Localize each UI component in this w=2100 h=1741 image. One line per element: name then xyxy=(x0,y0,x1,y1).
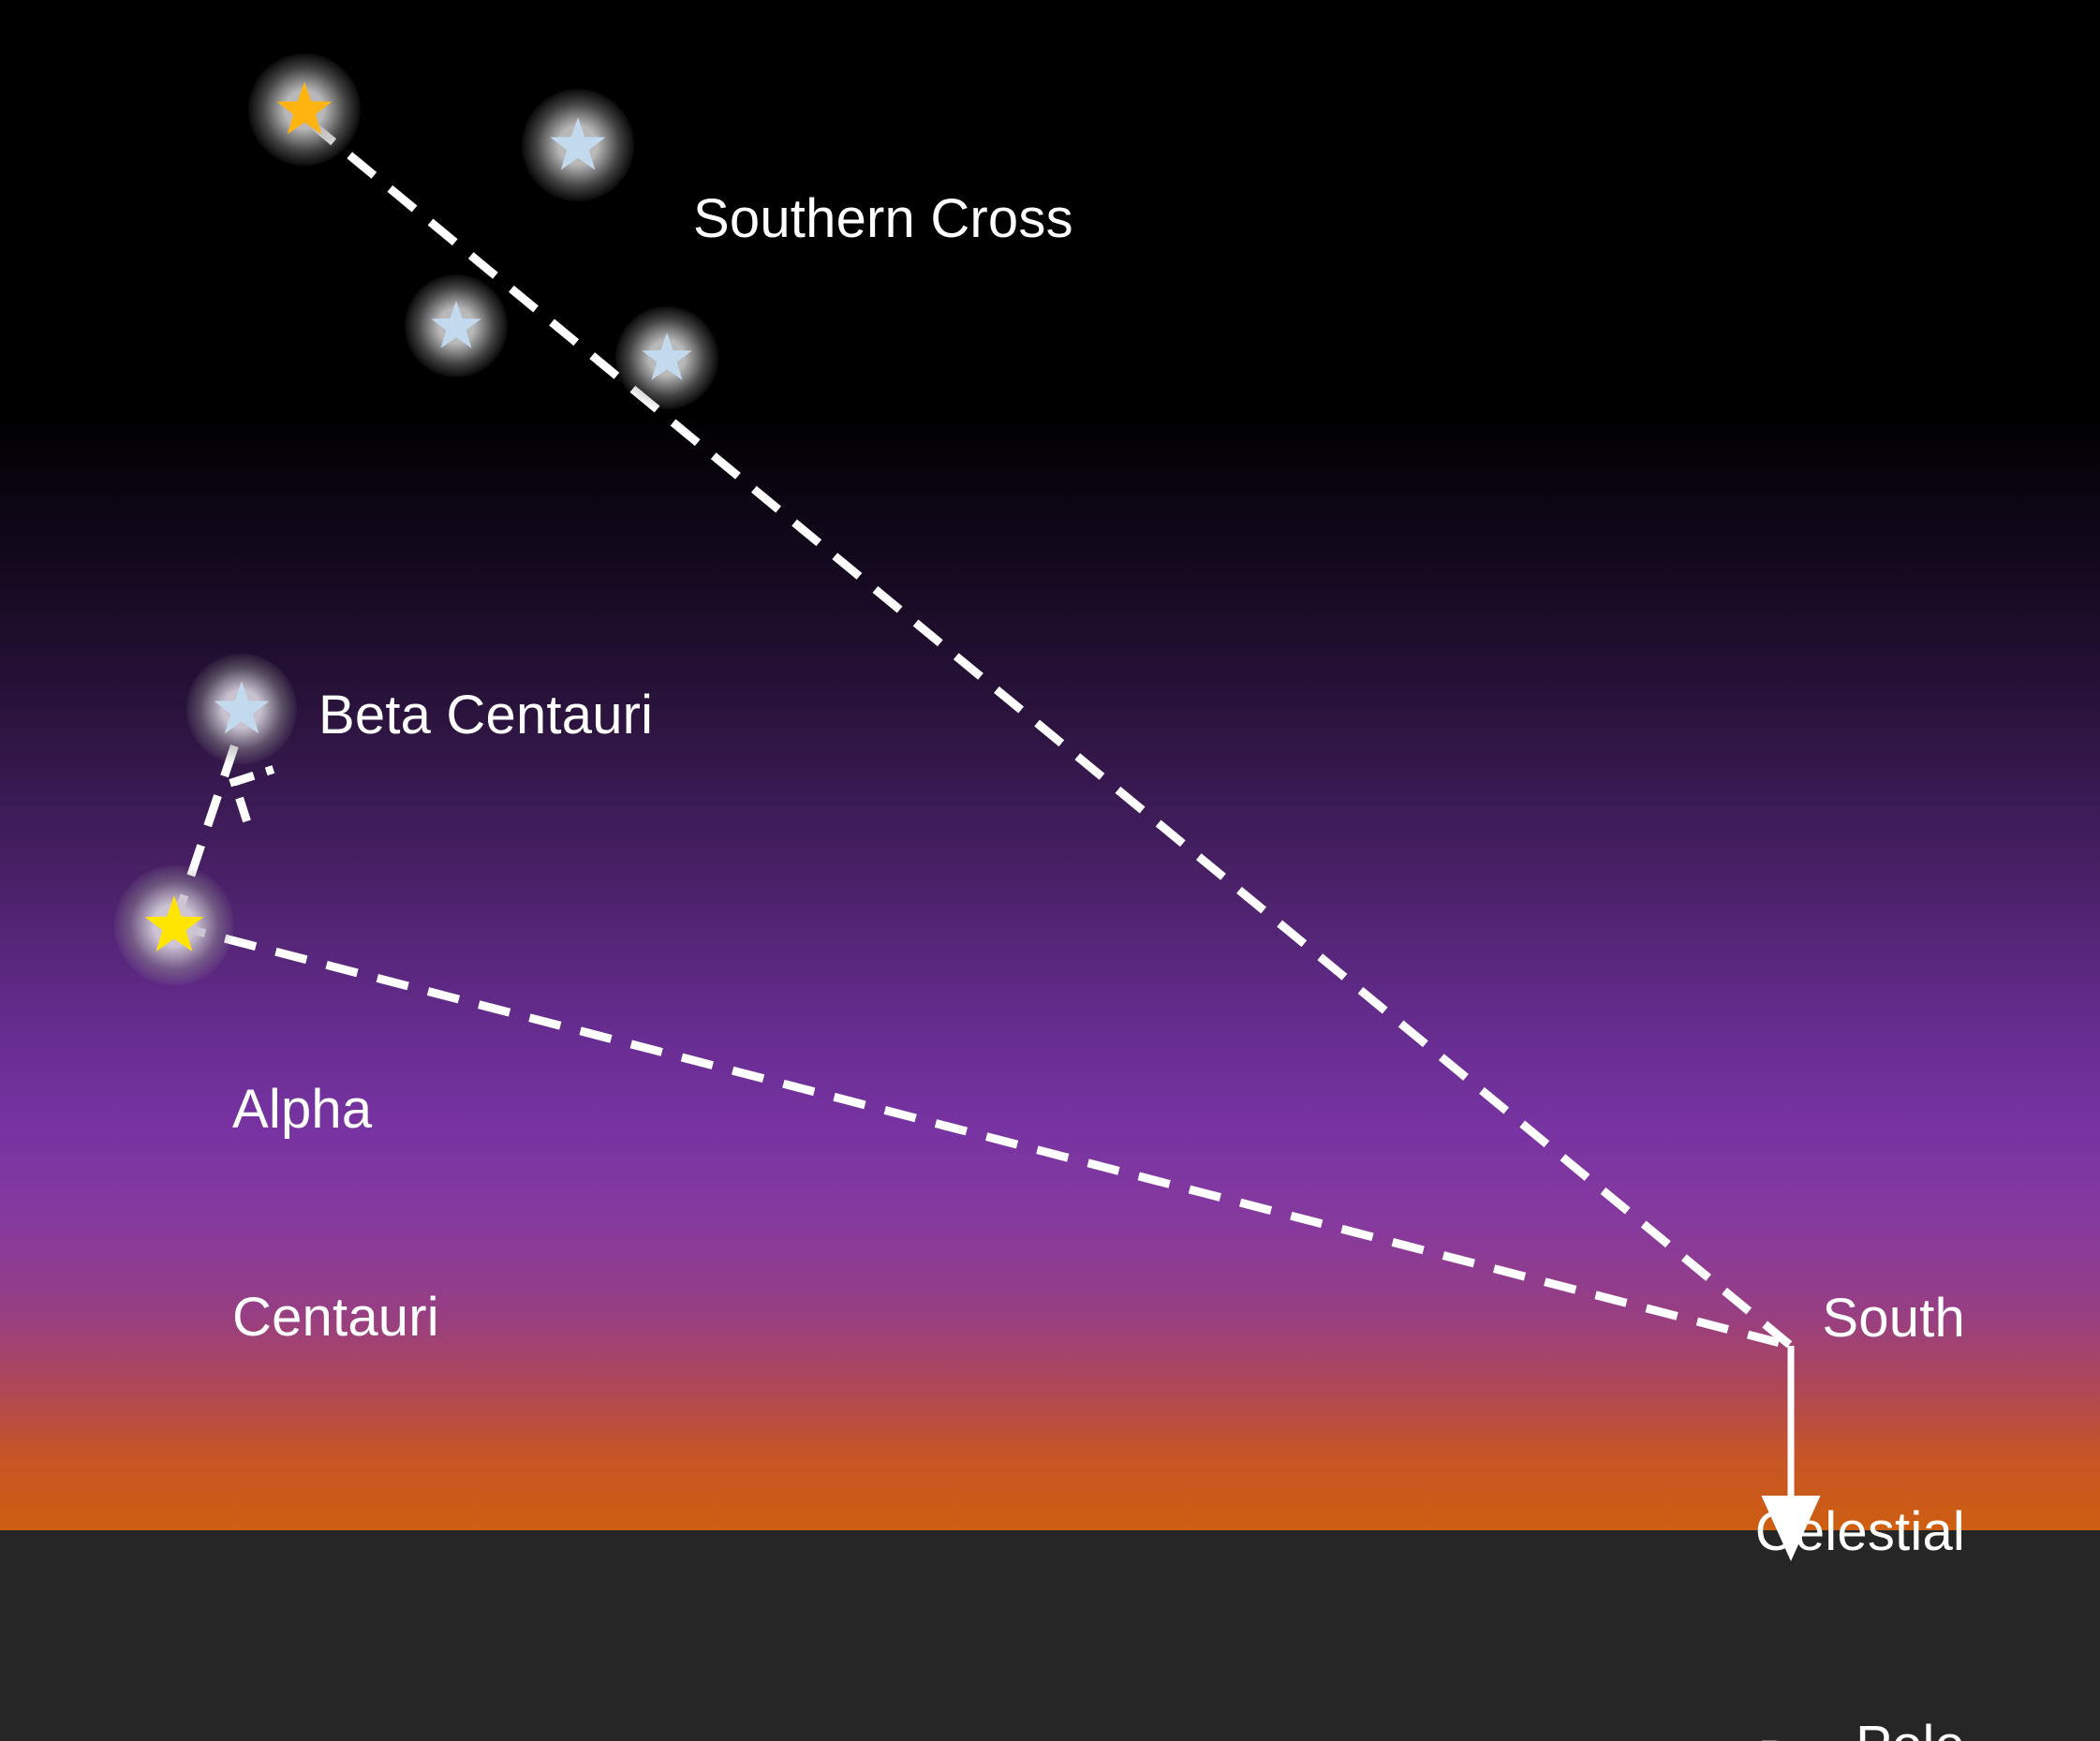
star-becrux xyxy=(549,116,607,174)
star-delta-crucis xyxy=(430,300,482,352)
star-icon-acrux xyxy=(641,332,693,384)
label-due-south: Due South xyxy=(1737,1583,1880,1741)
sky-chart-canvas: Southern Cross Beta Centauri Alpha Centa… xyxy=(0,0,2100,1741)
star-alpha-centauri xyxy=(143,894,205,956)
star-acrux xyxy=(641,332,693,384)
star-beta-centauri xyxy=(213,680,271,738)
label-beta-centauri: Beta Centauri xyxy=(318,682,653,750)
label-alpha-centauri: Alpha Centauri xyxy=(232,937,439,1491)
star-icon-gacrux xyxy=(275,81,333,139)
star-icon-alpha-centauri xyxy=(143,894,205,956)
star-gacrux xyxy=(275,81,333,139)
label-scp-line-2: Celestial xyxy=(1755,1497,1965,1568)
label-alpha-centauri-line-1: Alpha xyxy=(232,1075,439,1144)
label-southern-cross: Southern Cross xyxy=(693,185,1073,254)
label-alpha-centauri-line-2: Centauri xyxy=(232,1283,439,1352)
label-scp-line-1: South xyxy=(1755,1283,1965,1354)
star-icon-beta-centauri xyxy=(213,680,271,738)
star-icon-becrux xyxy=(549,116,607,174)
label-due-south-line-1: Due xyxy=(1737,1725,1880,1741)
star-icon-delta-crucis xyxy=(430,300,482,352)
